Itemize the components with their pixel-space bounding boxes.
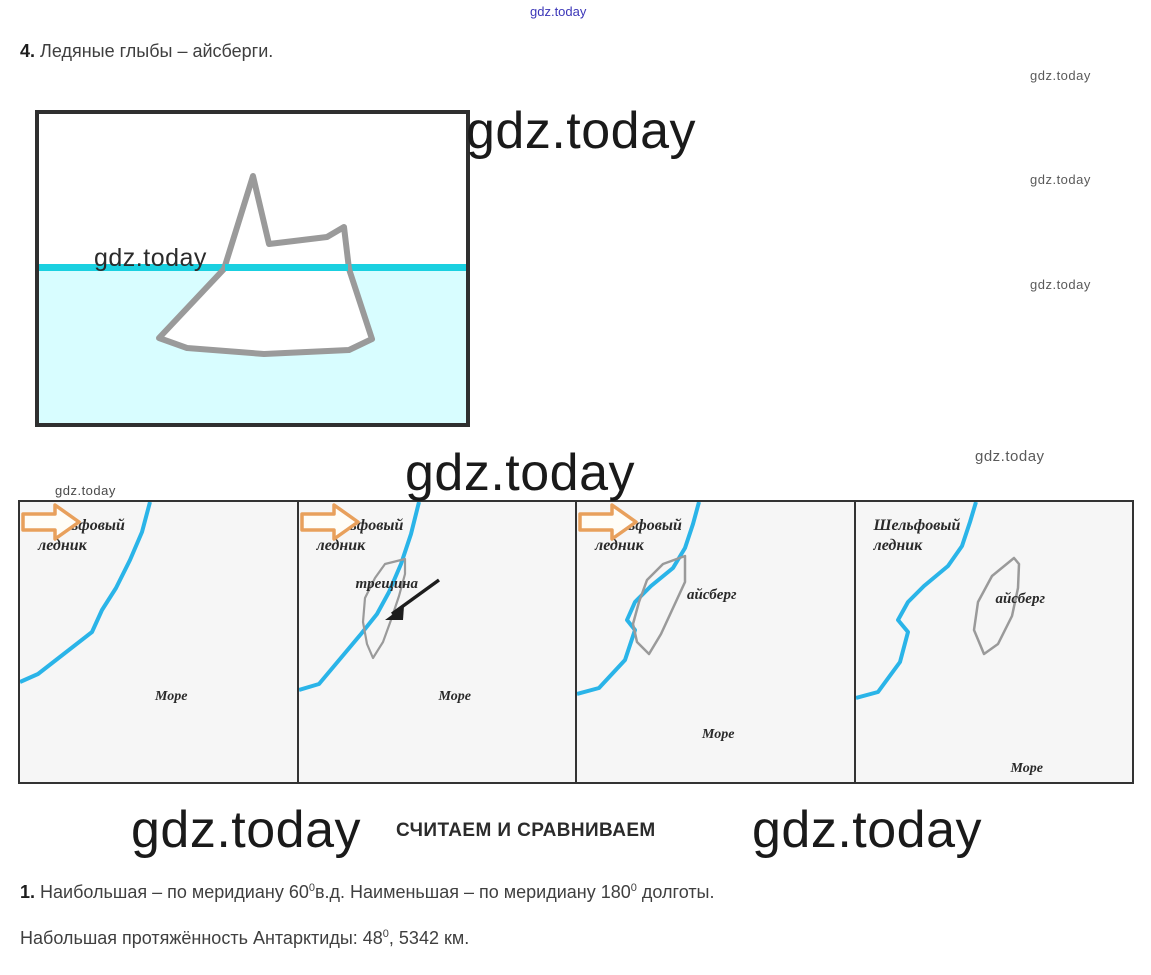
panel-2-svg [299, 502, 577, 782]
answer-1-part-c: долготы. [637, 882, 715, 902]
coastline [856, 502, 976, 698]
watermark-right-4: gdz.today [975, 448, 1045, 465]
watermark-large-4: gdz.today [752, 800, 982, 860]
answer-2-part-b: , 5342 км. [389, 928, 469, 948]
watermark-right-2: gdz.today [1030, 172, 1091, 187]
iceberg-shape [633, 556, 685, 654]
answer-line-1: 1. Наибольшая – по меридиану 600в.д. Наи… [20, 882, 715, 903]
watermark-top: gdz.today [530, 4, 586, 19]
section-heading: СЧИТАЕМ И СРАВНИВАЕМ [396, 820, 656, 842]
watermark-large-1: gdz.today [466, 101, 696, 161]
sequence-panel-2: Шельфовый ледник трещина Море [299, 502, 578, 782]
sequence-panel-3: Шельфовый ледник айсберг Море [577, 502, 856, 782]
answer-line-2: Набольшая протяжённость Антарктиды: 480,… [20, 928, 469, 949]
sequence-panel-4: Шельфовый ледник айсберг Море [856, 502, 1133, 782]
waterline-over-ice [225, 264, 348, 271]
iceberg-diagram: gdz.today gdz.today [35, 110, 470, 427]
watermark-right-3: gdz.today [1030, 277, 1091, 292]
arrow-3-to-4-icon [577, 502, 639, 542]
watermark-large-2: gdz.today [405, 443, 635, 503]
panel-4-svg [856, 502, 1134, 782]
task-number: 4. [20, 41, 35, 61]
watermark-right-1: gdz.today [1030, 68, 1091, 83]
iceberg-shape [974, 558, 1019, 654]
answer-1-part-b: в.д. Наименьшая – по меридиану 180 [315, 882, 631, 902]
iceberg-svg [39, 114, 466, 423]
iceberg-formation-sequence: Шельфовый ледник Море Шельфовый ледник т… [18, 500, 1134, 784]
watermark-large-3: gdz.today [131, 800, 361, 860]
task-heading: 4. Ледяные глыбы – айсберги. [20, 41, 273, 62]
arrow-2-to-3-icon [299, 502, 361, 542]
sequence-panel-1: Шельфовый ледник Море [20, 502, 299, 782]
task-text: Ледяные глыбы – айсберги. [40, 41, 273, 61]
arrow-1-to-2-icon [20, 502, 82, 542]
answer-1-number: 1. [20, 882, 35, 902]
panel-3-svg [577, 502, 855, 782]
answer-2-part-a: Набольшая протяжённость Антарктиды: 48 [20, 928, 383, 948]
panel-1-svg [20, 502, 298, 782]
answer-1-part-a: Наибольшая – по меридиану 60 [35, 882, 309, 902]
watermark-above-panels: gdz.today [55, 483, 116, 498]
